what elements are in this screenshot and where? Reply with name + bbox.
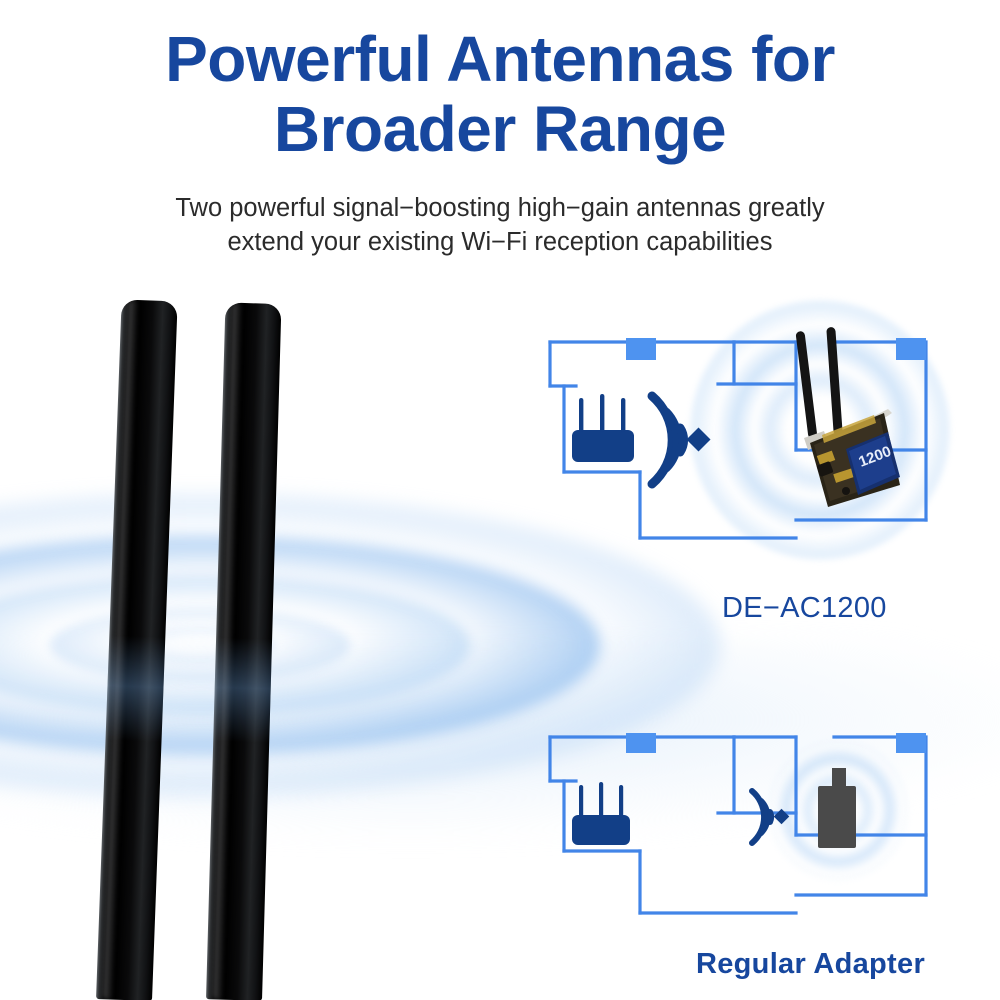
wifi-signal-icon	[752, 791, 771, 843]
antenna-highlight	[103, 300, 138, 1000]
diagram-panel-regular-adapter	[548, 733, 948, 918]
frame-corner-square-left	[626, 338, 656, 360]
card-antenna-right	[826, 327, 843, 435]
ripple-ring-2	[50, 608, 350, 682]
usb-wifi-dongle	[810, 768, 866, 850]
wifi-signal-dot	[774, 809, 790, 825]
antenna-ripple-reflection	[213, 637, 272, 743]
page-title: Powerful Antennas for Broader Range	[0, 24, 1000, 165]
antenna-highlight	[213, 303, 241, 1000]
antenna-ripple-reflection	[106, 635, 166, 742]
dongle-body	[818, 786, 856, 848]
product-feature-image: Powerful Antennas for Broader Range Two …	[0, 0, 1000, 1000]
hero-antenna-right	[206, 302, 281, 1000]
frame-corner-square-left	[626, 733, 656, 753]
ripple-ring-4	[0, 536, 600, 754]
antenna-body	[206, 302, 281, 1000]
hero-antenna-left	[96, 299, 178, 1000]
wifi-signal-icon	[652, 396, 684, 484]
label-regular-adapter: Regular Adapter	[696, 948, 925, 981]
ripple-ring-3	[0, 575, 470, 715]
label-de-ac1200: DE−AC1200	[722, 592, 887, 625]
antenna-body	[96, 299, 178, 1000]
frame-corner-square-right	[896, 733, 926, 753]
wifi-router-icon	[572, 782, 630, 845]
card-connector	[842, 487, 850, 495]
card-antenna-left	[795, 331, 817, 439]
subtitle-line-2: extend your existing Wi−Fi reception cap…	[70, 226, 930, 260]
subtitle: Two powerful signal−boosting high−gain a…	[70, 192, 930, 259]
headline-line-2: Broader Range	[0, 94, 1000, 164]
pcie-wifi-adapter-card: 1200	[788, 325, 938, 515]
ripple-ring-1	[125, 627, 275, 663]
subtitle-line-1: Two powerful signal−boosting high−gain a…	[175, 194, 824, 222]
wifi-signal-dot	[686, 427, 710, 451]
headline-line-1: Powerful Antennas for	[165, 23, 835, 95]
wifi-router-icon	[572, 394, 634, 462]
